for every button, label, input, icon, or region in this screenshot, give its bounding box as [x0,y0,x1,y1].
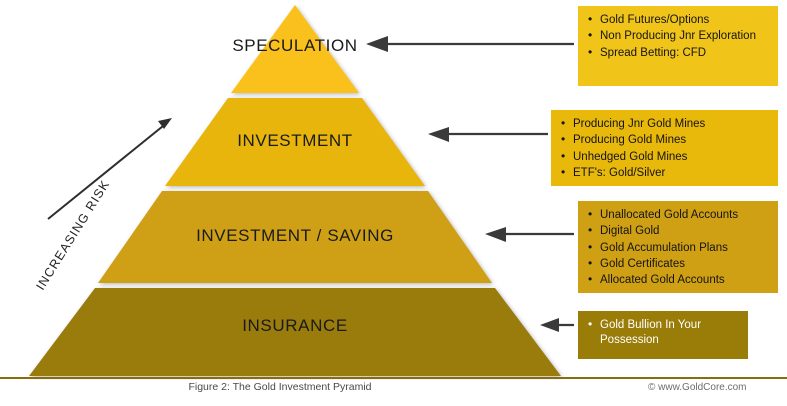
list-item: Gold Bullion In Your Possession [600,318,740,349]
footer-divider [0,377,787,379]
callout-arrow-investment [428,127,548,142]
callout-arrow-investment-saving [485,227,574,242]
list-item: Spread Betting: CFD [600,46,770,61]
list-item: Gold Certificates [600,257,770,272]
callout-investment: Producing Jnr Gold Mines Producing Gold … [551,110,778,186]
callout-list-speculation: Gold Futures/Options Non Producing Jnr E… [584,13,770,61]
callout-list-investment: Producing Jnr Gold Mines Producing Gold … [557,117,770,181]
callout-arrow-speculation [366,36,574,52]
figure-caption: Figure 2: The Gold Investment Pyramid [0,381,560,393]
list-item: Digital Gold [600,224,770,239]
list-item: Allocated Gold Accounts [600,273,770,288]
callout-investment-saving: Unallocated Gold Accounts Digital Gold G… [578,201,778,293]
callout-arrow-insurance [540,318,574,332]
callout-speculation: Gold Futures/Options Non Producing Jnr E… [578,6,778,86]
list-item: Gold Futures/Options [600,13,770,28]
gold-investment-pyramid-figure: SPECULATION INVESTMENT INVESTMENT / SAVI… [0,0,787,406]
callout-list-investment-saving: Unallocated Gold Accounts Digital Gold G… [584,208,770,288]
list-item: Producing Jnr Gold Mines [573,117,770,132]
callout-insurance: Gold Bullion In Your Possession [578,311,748,359]
list-item: Gold Accumulation Plans [600,241,770,256]
list-item: Producing Gold Mines [573,133,770,148]
list-item: Unallocated Gold Accounts [600,208,770,223]
list-item: Non Producing Jnr Exploration [600,29,770,44]
list-item: Unhedged Gold Mines [573,150,770,165]
list-item: ETF's: Gold/Silver [573,166,770,181]
copyright-notice: © www.GoldCore.com [648,382,747,393]
callout-list-insurance: Gold Bullion In Your Possession [584,318,740,349]
